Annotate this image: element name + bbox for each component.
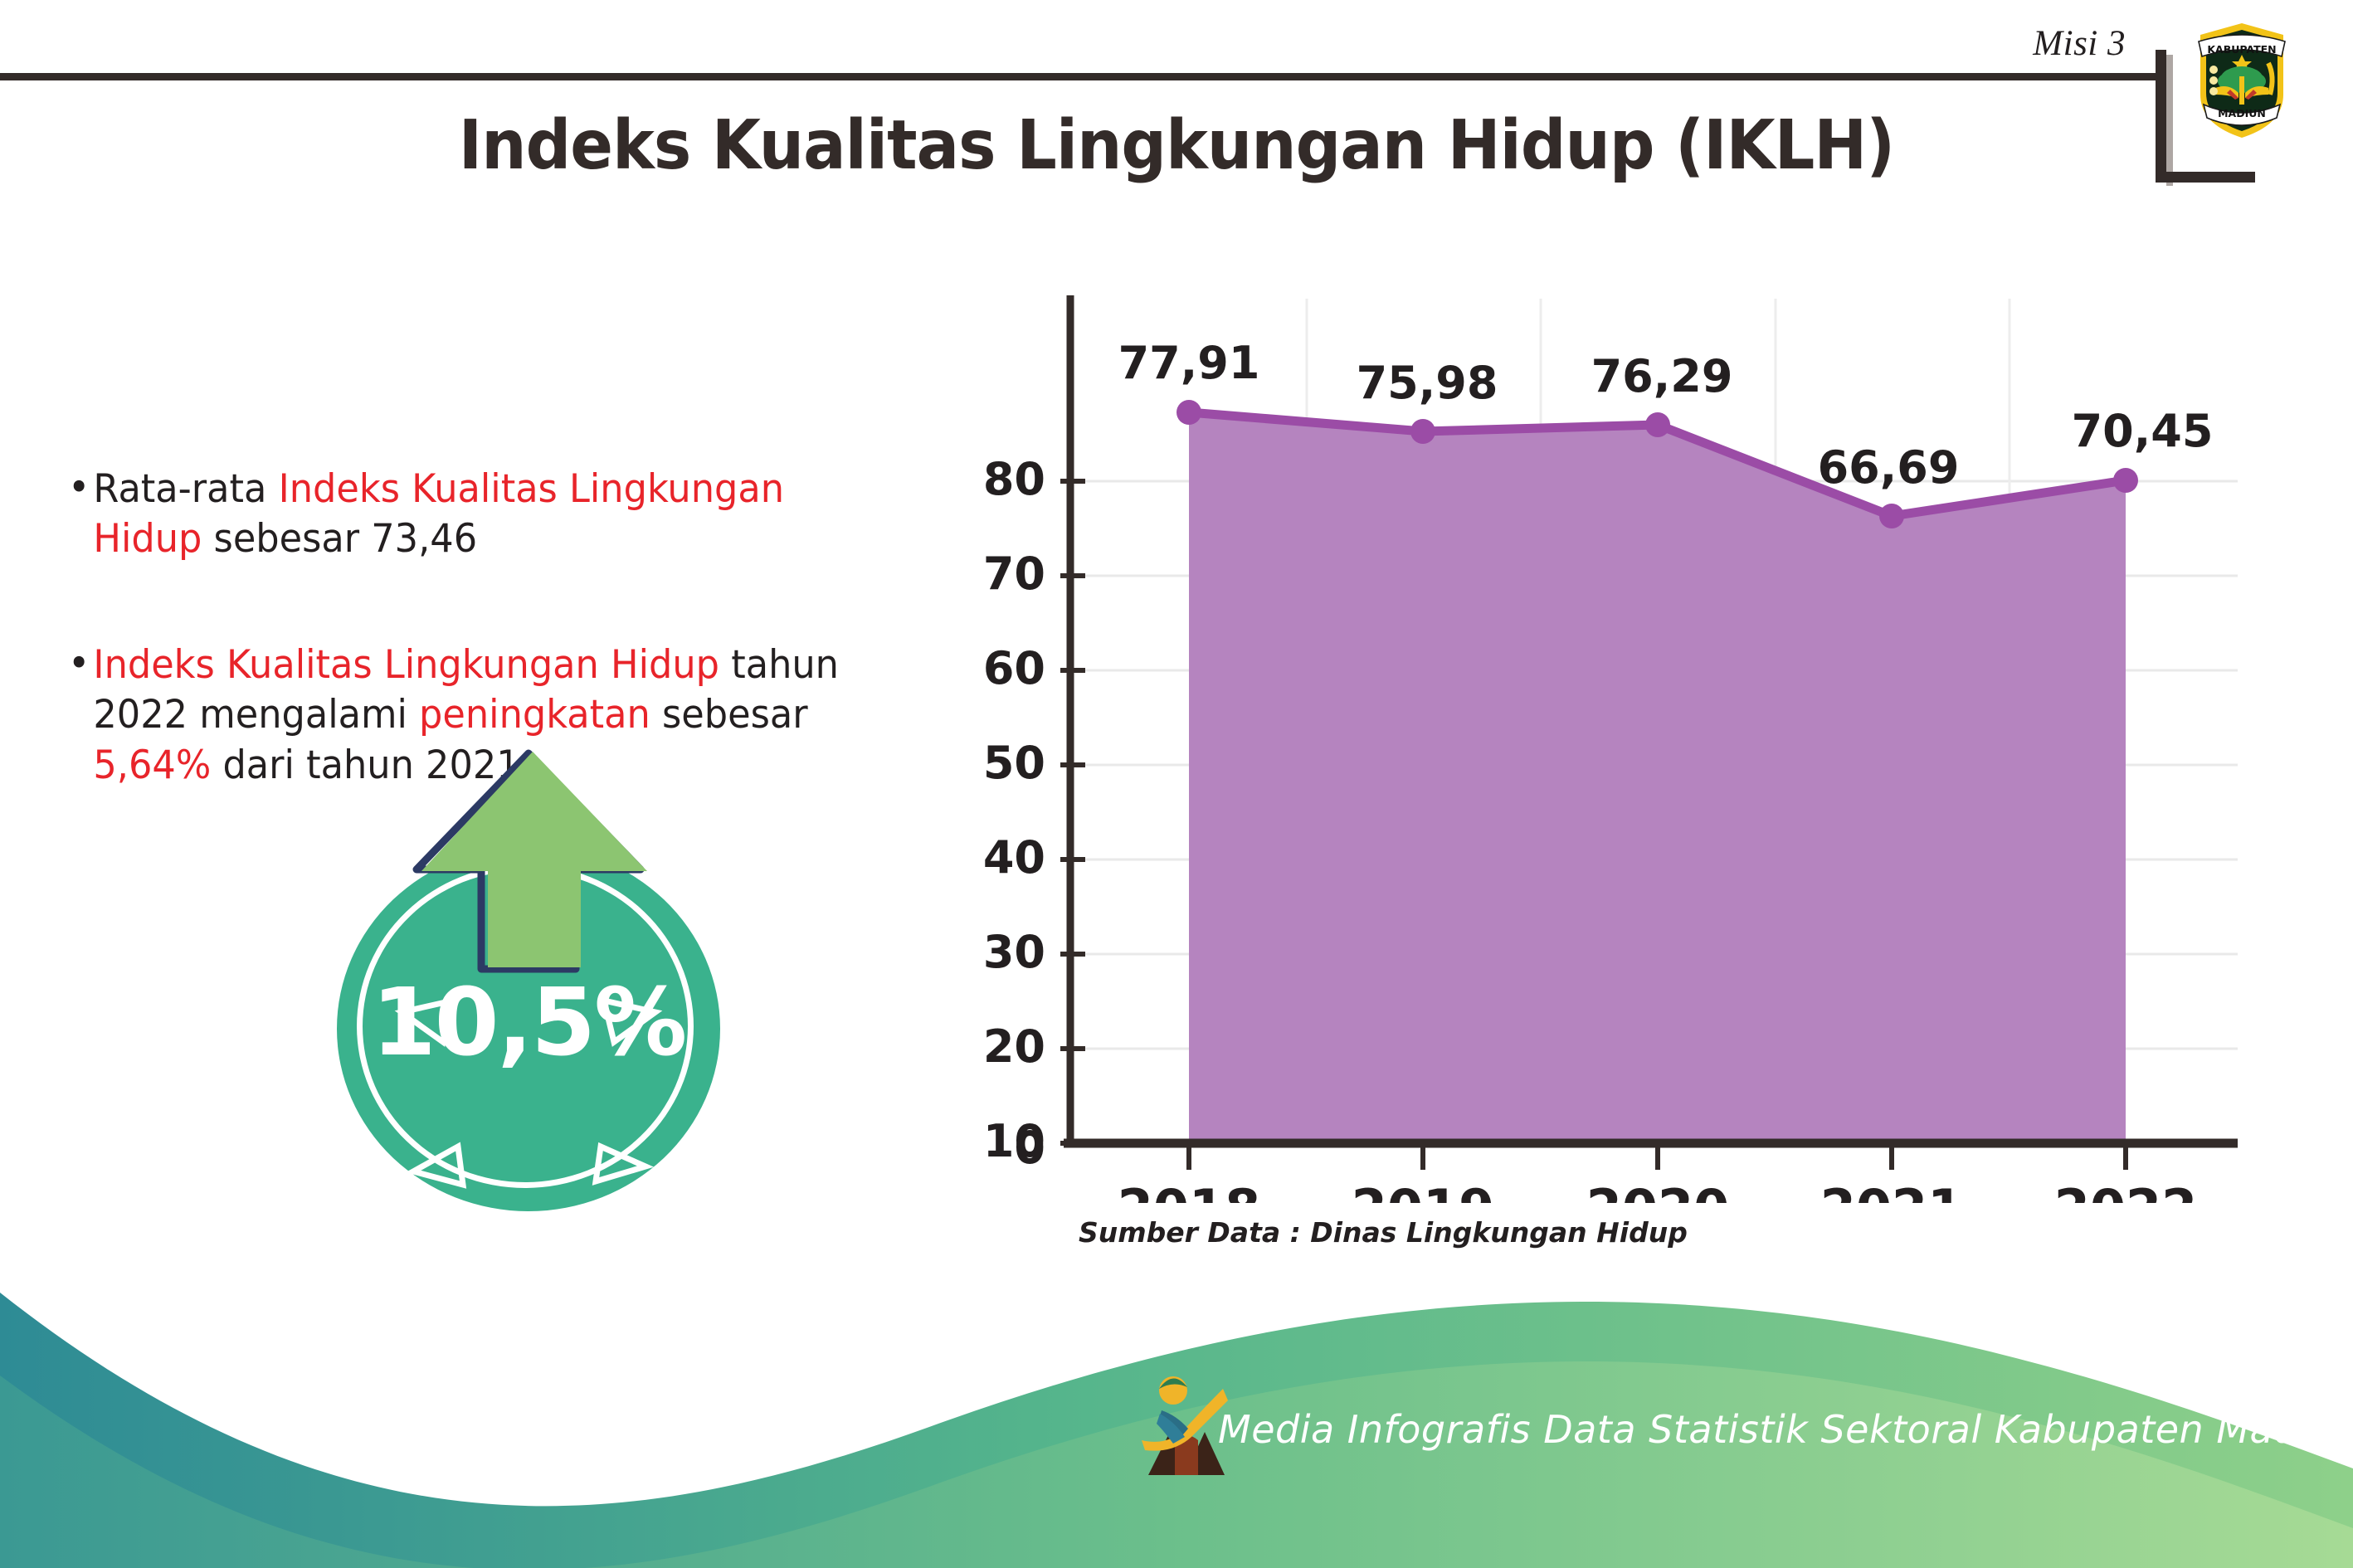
ytick-label: 70	[983, 548, 1045, 600]
infographic-page: Misi 3 KABUPATEN MADIUN Indeks Kualitas …	[0, 0, 2353, 1568]
bullet2-highlight-3: 5,64%	[93, 743, 211, 788]
value-label: 70,45	[2072, 405, 2214, 457]
chart-svg: 80 70 60 50 40 30 20 10 0 77,91 75,98 76…	[954, 274, 2298, 1203]
value-label: 76,29	[1591, 350, 1733, 402]
bullet1-text-2: sebesar 73,46	[202, 516, 477, 562]
xtick-label: 2021	[1820, 1178, 1964, 1203]
highlights-list: Rata-rata Indeks Kualitas Lingkungan Hid…	[68, 465, 948, 791]
svg-text:KABUPATEN: KABUPATEN	[2207, 43, 2276, 56]
ytick-label: 80	[983, 453, 1045, 505]
footer-wave: Media Infografis Data Statistik Sektoral…	[0, 1220, 2353, 1568]
header-rule	[0, 73, 2162, 80]
ytick-label: 40	[983, 831, 1045, 884]
ytick-label: 60	[983, 642, 1045, 694]
xtick-label: 2018	[1118, 1178, 1261, 1203]
bullet2-highlight-1: Indeks Kualitas Lingkungan Hidup	[93, 642, 719, 688]
value-label: 77,91	[1118, 337, 1260, 389]
ytick-label: 0	[1014, 1122, 1045, 1174]
ytick-label: 30	[983, 926, 1045, 978]
highlight-bullet-1: Rata-rata Indeks Kualitas Lingkungan Hid…	[68, 465, 904, 564]
value-label: 66,69	[1818, 441, 1960, 494]
bullet2-text-2: sebesar	[650, 692, 808, 738]
bullet2-highlight-2: peningkatan	[419, 692, 650, 738]
mission-label: Misi 3	[2033, 23, 2126, 64]
iklh-area-chart: 80 70 60 50 40 30 20 10 0 77,91 75,98 76…	[954, 274, 2298, 1203]
bullet1-text-1: Rata-rata	[93, 466, 278, 512]
ytick-label: 50	[983, 737, 1045, 789]
xtick-label: 2022	[2054, 1178, 2198, 1203]
xtick-label: 2019	[1352, 1178, 1495, 1203]
footer-caption: Media Infografis Data Statistik Sektoral…	[1218, 1407, 2353, 1452]
chart-xtick-labels: 2018 2019 2020 2021 2022	[1118, 1178, 2198, 1203]
chart-area-series	[1176, 400, 2138, 1143]
ytick-label: 20	[983, 1020, 1045, 1073]
badge-value: 10,5%	[337, 969, 720, 1077]
page-title: Indeks Kualitas Lingkungan Hidup (IKLH)	[82, 106, 2270, 185]
xtick-label: 2020	[1586, 1178, 1730, 1203]
chart-ytick-labels: 80 70 60 50 40 30 20 10 0	[983, 453, 1045, 1174]
growth-badge: 10,5%	[314, 747, 762, 1211]
value-label: 75,98	[1357, 357, 1498, 409]
